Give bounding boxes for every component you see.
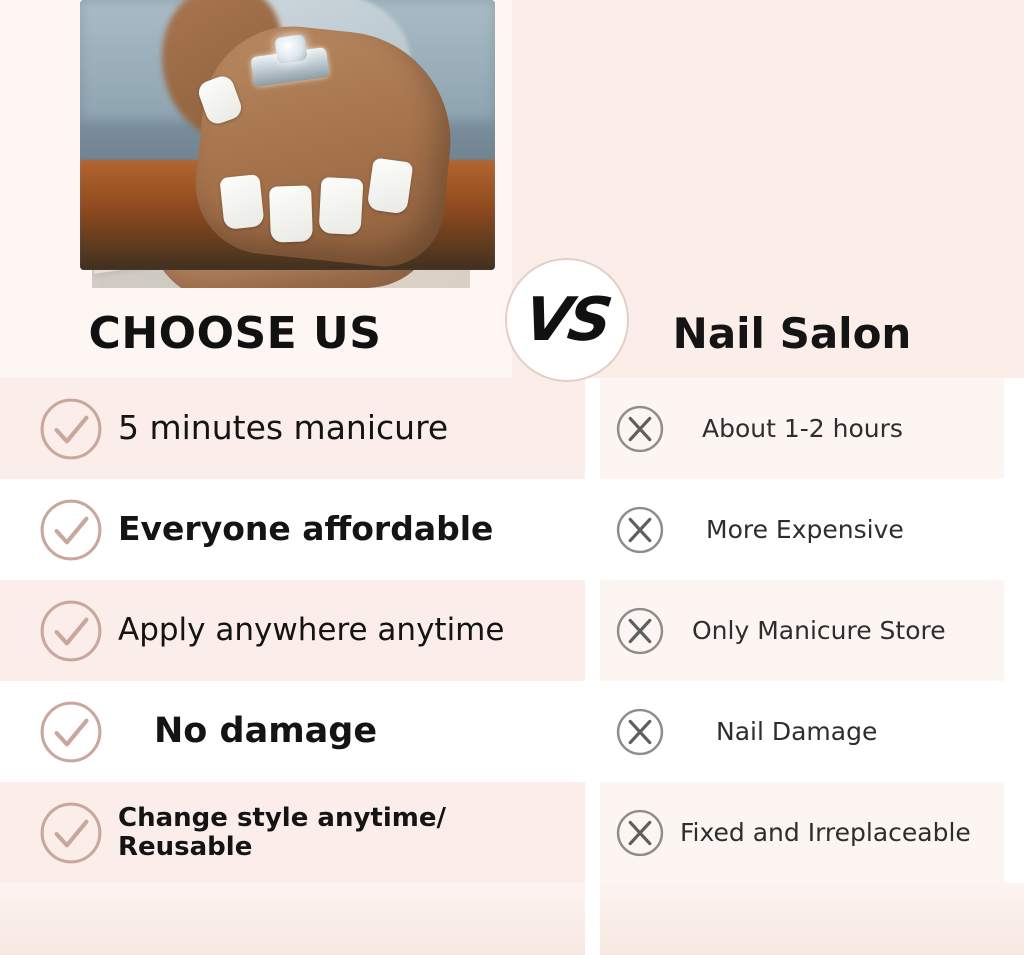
page-title-right: Nail Salon xyxy=(673,309,912,358)
bottom-gradient-band xyxy=(0,883,1024,955)
pros-text: Change style anytime/ Reusable xyxy=(118,804,585,861)
nail-salon-title: Nail Salon xyxy=(560,288,1024,378)
x-circle-icon xyxy=(614,403,666,455)
column-divider xyxy=(585,883,600,955)
table-row: Apply anywhere anytime Only Manicure Sto… xyxy=(0,580,1024,681)
comparison-table: 5 minutes manicure About 1-2 hours Every… xyxy=(0,378,1024,955)
hero-section: CHOOSE US Nail Salon VS xyxy=(0,0,1024,378)
cons-cell: Fixed and Irreplaceable xyxy=(600,782,1004,883)
vs-label: VS xyxy=(520,285,613,355)
white-nail-3 xyxy=(319,177,364,235)
pros-text: Apply anywhere anytime xyxy=(118,613,504,647)
diamond-stone xyxy=(274,34,307,64)
table-row: No damage Nail Damage xyxy=(0,681,1024,782)
comparison-poster: CHOOSE US Nail Salon VS 5 minutes manicu… xyxy=(0,0,1024,955)
cons-text: About 1-2 hours xyxy=(702,415,903,443)
cons-text: Only Manicure Store xyxy=(692,617,946,645)
check-circle-icon xyxy=(38,800,104,866)
cons-text: More Expensive xyxy=(706,516,904,544)
table-row: 5 minutes manicure About 1-2 hours xyxy=(0,378,1024,479)
table-row: Change style anytime/ Reusable Fixed and… xyxy=(0,782,1024,883)
vs-badge: VS xyxy=(505,258,629,382)
pros-text: 5 minutes manicure xyxy=(118,410,448,446)
x-circle-icon xyxy=(614,504,666,556)
pros-cell: Everyone affordable xyxy=(0,479,585,580)
cons-cell: Nail Damage xyxy=(600,681,1004,782)
check-circle-icon xyxy=(38,396,104,462)
pros-text: Everyone affordable xyxy=(118,511,493,547)
cons-text: Nail Damage xyxy=(716,718,877,746)
cons-cell: About 1-2 hours xyxy=(600,378,1004,479)
table-row: Everyone affordable More Expensive xyxy=(0,479,1024,580)
x-circle-icon xyxy=(614,807,666,859)
salon-manicure-photo xyxy=(80,0,495,270)
cons-cell: More Expensive xyxy=(600,479,1004,580)
check-circle-icon xyxy=(38,598,104,664)
white-nail-4 xyxy=(367,157,414,214)
pros-cell: 5 minutes manicure xyxy=(0,378,585,479)
check-circle-icon xyxy=(38,497,104,563)
pros-cell: No damage xyxy=(0,681,585,782)
cons-cell: Only Manicure Store xyxy=(600,580,1004,681)
pros-cell: Change style anytime/ Reusable xyxy=(0,782,585,883)
pros-text: No damage xyxy=(154,712,377,751)
white-nail-2 xyxy=(269,185,313,242)
page-title-left: CHOOSE US xyxy=(89,308,382,359)
cons-text: Fixed and Irreplaceable xyxy=(680,819,971,847)
x-circle-icon xyxy=(614,605,666,657)
choose-us-title: CHOOSE US xyxy=(0,288,470,378)
x-circle-icon xyxy=(614,706,666,758)
check-circle-icon xyxy=(38,699,104,765)
pros-cell: Apply anywhere anytime xyxy=(0,580,585,681)
white-nail-1 xyxy=(219,174,264,230)
